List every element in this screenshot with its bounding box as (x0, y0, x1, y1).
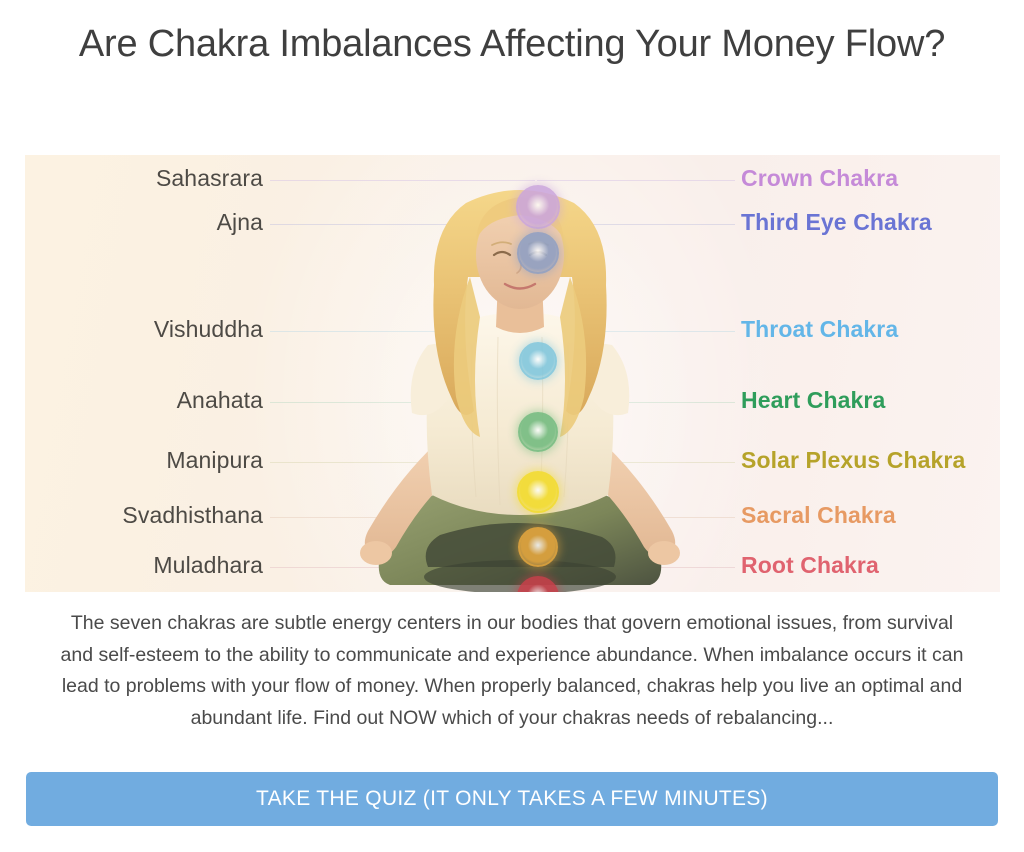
chakra-symbol-heart-chakra (518, 412, 558, 452)
chakra-diagram-panel: SahasraraCrown ChakraAjnaThird Eye Chakr… (25, 155, 1000, 592)
description-paragraph: The seven chakras are subtle energy cent… (52, 608, 972, 734)
chakra-sanskrit-label-svadhisthana: Svadhisthana (122, 502, 263, 529)
chakra-symbol-throat-chakra (519, 342, 557, 380)
chakra-sanskrit-label-muladhara: Muladhara (153, 552, 263, 579)
meditating-woman-figure (320, 185, 720, 592)
chakra-english-label-heart-chakra: Heart Chakra (741, 387, 885, 414)
page-title: Are Chakra Imbalances Affecting Your Mon… (62, 18, 962, 72)
chakra-english-label-crown-chakra: Crown Chakra (741, 165, 898, 192)
landing-page: Are Chakra Imbalances Affecting Your Mon… (0, 0, 1024, 852)
leader-line-right-sahasrara (537, 180, 735, 181)
leader-line-left-sahasrara (270, 180, 535, 181)
chakra-symbol-crown-chakra (516, 185, 560, 229)
chakra-sanskrit-label-manipura: Manipura (166, 447, 263, 474)
chakra-english-label-third-eye-chakra: Third Eye Chakra (741, 209, 932, 236)
chakra-english-label-sacral-chakra: Sacral Chakra (741, 502, 896, 529)
chakra-symbol-solar-plexus-chakra (517, 471, 559, 513)
chakra-english-label-root-chakra: Root Chakra (741, 552, 879, 579)
chakra-sanskrit-label-ajna: Ajna (217, 209, 263, 236)
take-the-quiz-button[interactable]: TAKE THE QUIZ (IT ONLY TAKES A FEW MINUT… (26, 772, 998, 826)
chakra-sanskrit-label-anahata: Anahata (177, 387, 263, 414)
chakra-english-label-solar-plexus-chakra: Solar Plexus Chakra (741, 447, 965, 474)
chakra-english-label-throat-chakra: Throat Chakra (741, 316, 898, 343)
chakra-symbol-sacral-chakra (518, 527, 558, 567)
chakra-sanskrit-label-sahasrara: Sahasrara (156, 165, 263, 192)
chakra-sanskrit-label-vishuddha: Vishuddha (154, 316, 263, 343)
chakra-symbol-third-eye-chakra (517, 232, 559, 274)
